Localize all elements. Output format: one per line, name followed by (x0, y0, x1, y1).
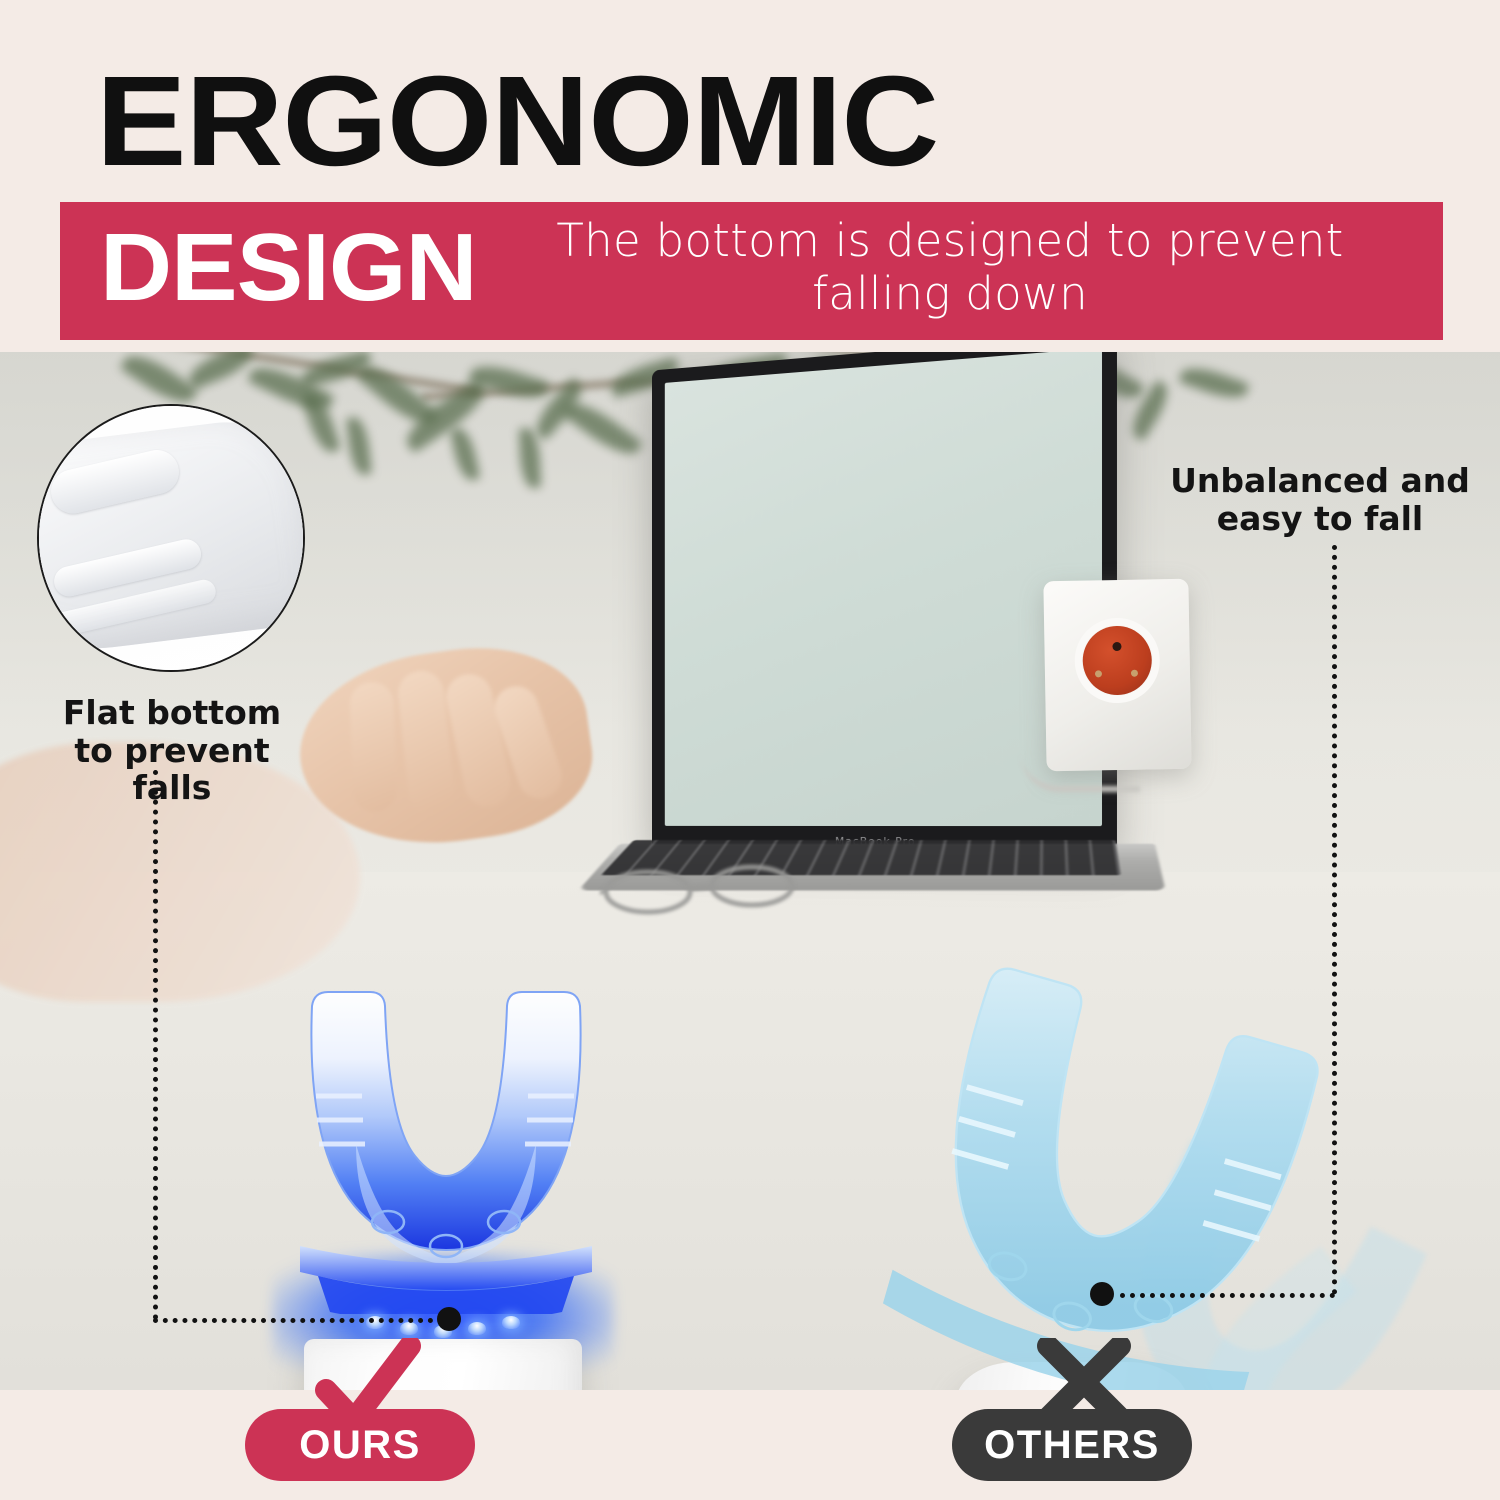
design-banner: DESIGN The bottom is designed to prevent… (60, 202, 1443, 340)
page-title: ERGONOMIC (96, 58, 938, 186)
right-connector-dot (1090, 1282, 1114, 1306)
right-annotation-caption: Unbalanced and easy to fall (1155, 462, 1485, 537)
device-bottom-closeup (37, 412, 305, 662)
flat-bottom-closeup-inset (37, 404, 305, 672)
socket-inner (1082, 625, 1152, 695)
ours-mouth-tray (296, 984, 596, 1314)
others-badge-label: OTHERS (984, 1423, 1160, 1468)
power-socket-box (1043, 579, 1191, 772)
eyeglasses (600, 860, 810, 920)
right-connector-horizontal (1120, 1293, 1335, 1298)
ours-badge-label: OURS (299, 1423, 421, 1468)
socket-ring (1074, 617, 1160, 703)
socket-cord (1020, 752, 1140, 792)
right-connector-vertical (1332, 545, 1337, 1295)
ours-badge[interactable]: OURS (245, 1409, 475, 1481)
infographic-page: ERGONOMIC DESIGN The bottom is designed … (0, 0, 1500, 1500)
left-annotation-caption: Flat bottom to prevent falls (44, 694, 300, 807)
banner-subtitle: The bottom is designed to prevent fallin… (490, 214, 1410, 320)
banner-keyword: DESIGN (100, 218, 477, 319)
others-badge[interactable]: OTHERS (952, 1409, 1192, 1481)
left-connector-vertical (153, 770, 158, 1320)
left-connector-horizontal (153, 1318, 443, 1323)
brand-name: Pdoo (426, 1389, 537, 1390)
left-connector-dot (437, 1307, 461, 1331)
